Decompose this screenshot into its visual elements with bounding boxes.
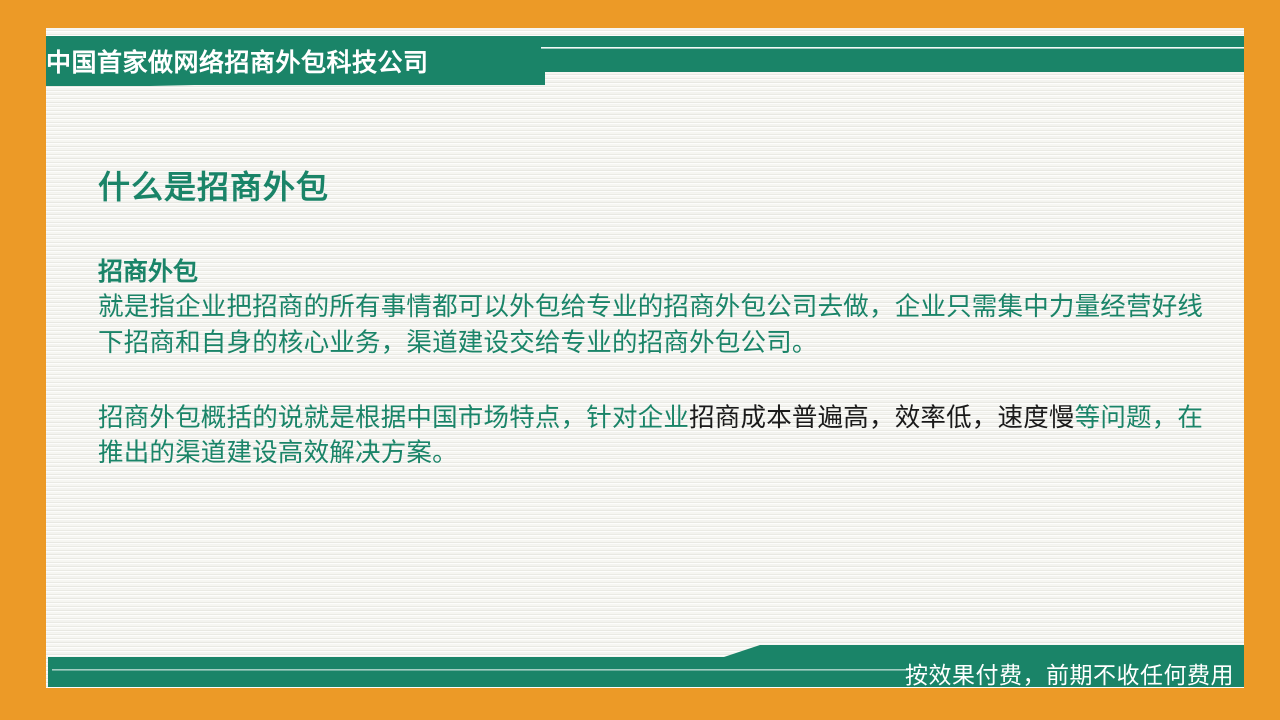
body-paragraph-2: 招商外包概括的说就是根据中国市场特点，针对企业招商成本普遍高，效率低，速度慢等问… xyxy=(98,401,1228,471)
footer-tagline: 按效果付费，前期不收任何费用 xyxy=(905,664,1234,687)
slide-root: 中国首家做网络招商外包科技公司 什么是招商外包 招商外包 就是指企业把招商的所有… xyxy=(0,0,1280,720)
header-title: 中国首家做网络招商外包科技公司 xyxy=(46,41,486,81)
paragraph-2-segment-highlight: 招商成本普遍高，效率低，速度慢 xyxy=(689,404,1075,432)
paragraph-2-segment-green-1: 招商外包概括的说就是根据中国市场特点，针对企业 xyxy=(98,404,689,432)
header-title-text: 中国首家做网络招商外包科技公司 xyxy=(46,43,486,79)
page-title: 什么是招商外包 xyxy=(98,168,1228,206)
lead-label: 招商外包 xyxy=(98,256,1228,288)
main-content: 什么是招商外包 招商外包 就是指企业把招商的所有事情都可以外包给专业的招商外包公… xyxy=(98,168,1228,471)
body-paragraph-1: 就是指企业把招商的所有事情都可以外包给专业的招商外包公司去做，企业只需集中力量经… xyxy=(98,290,1228,360)
